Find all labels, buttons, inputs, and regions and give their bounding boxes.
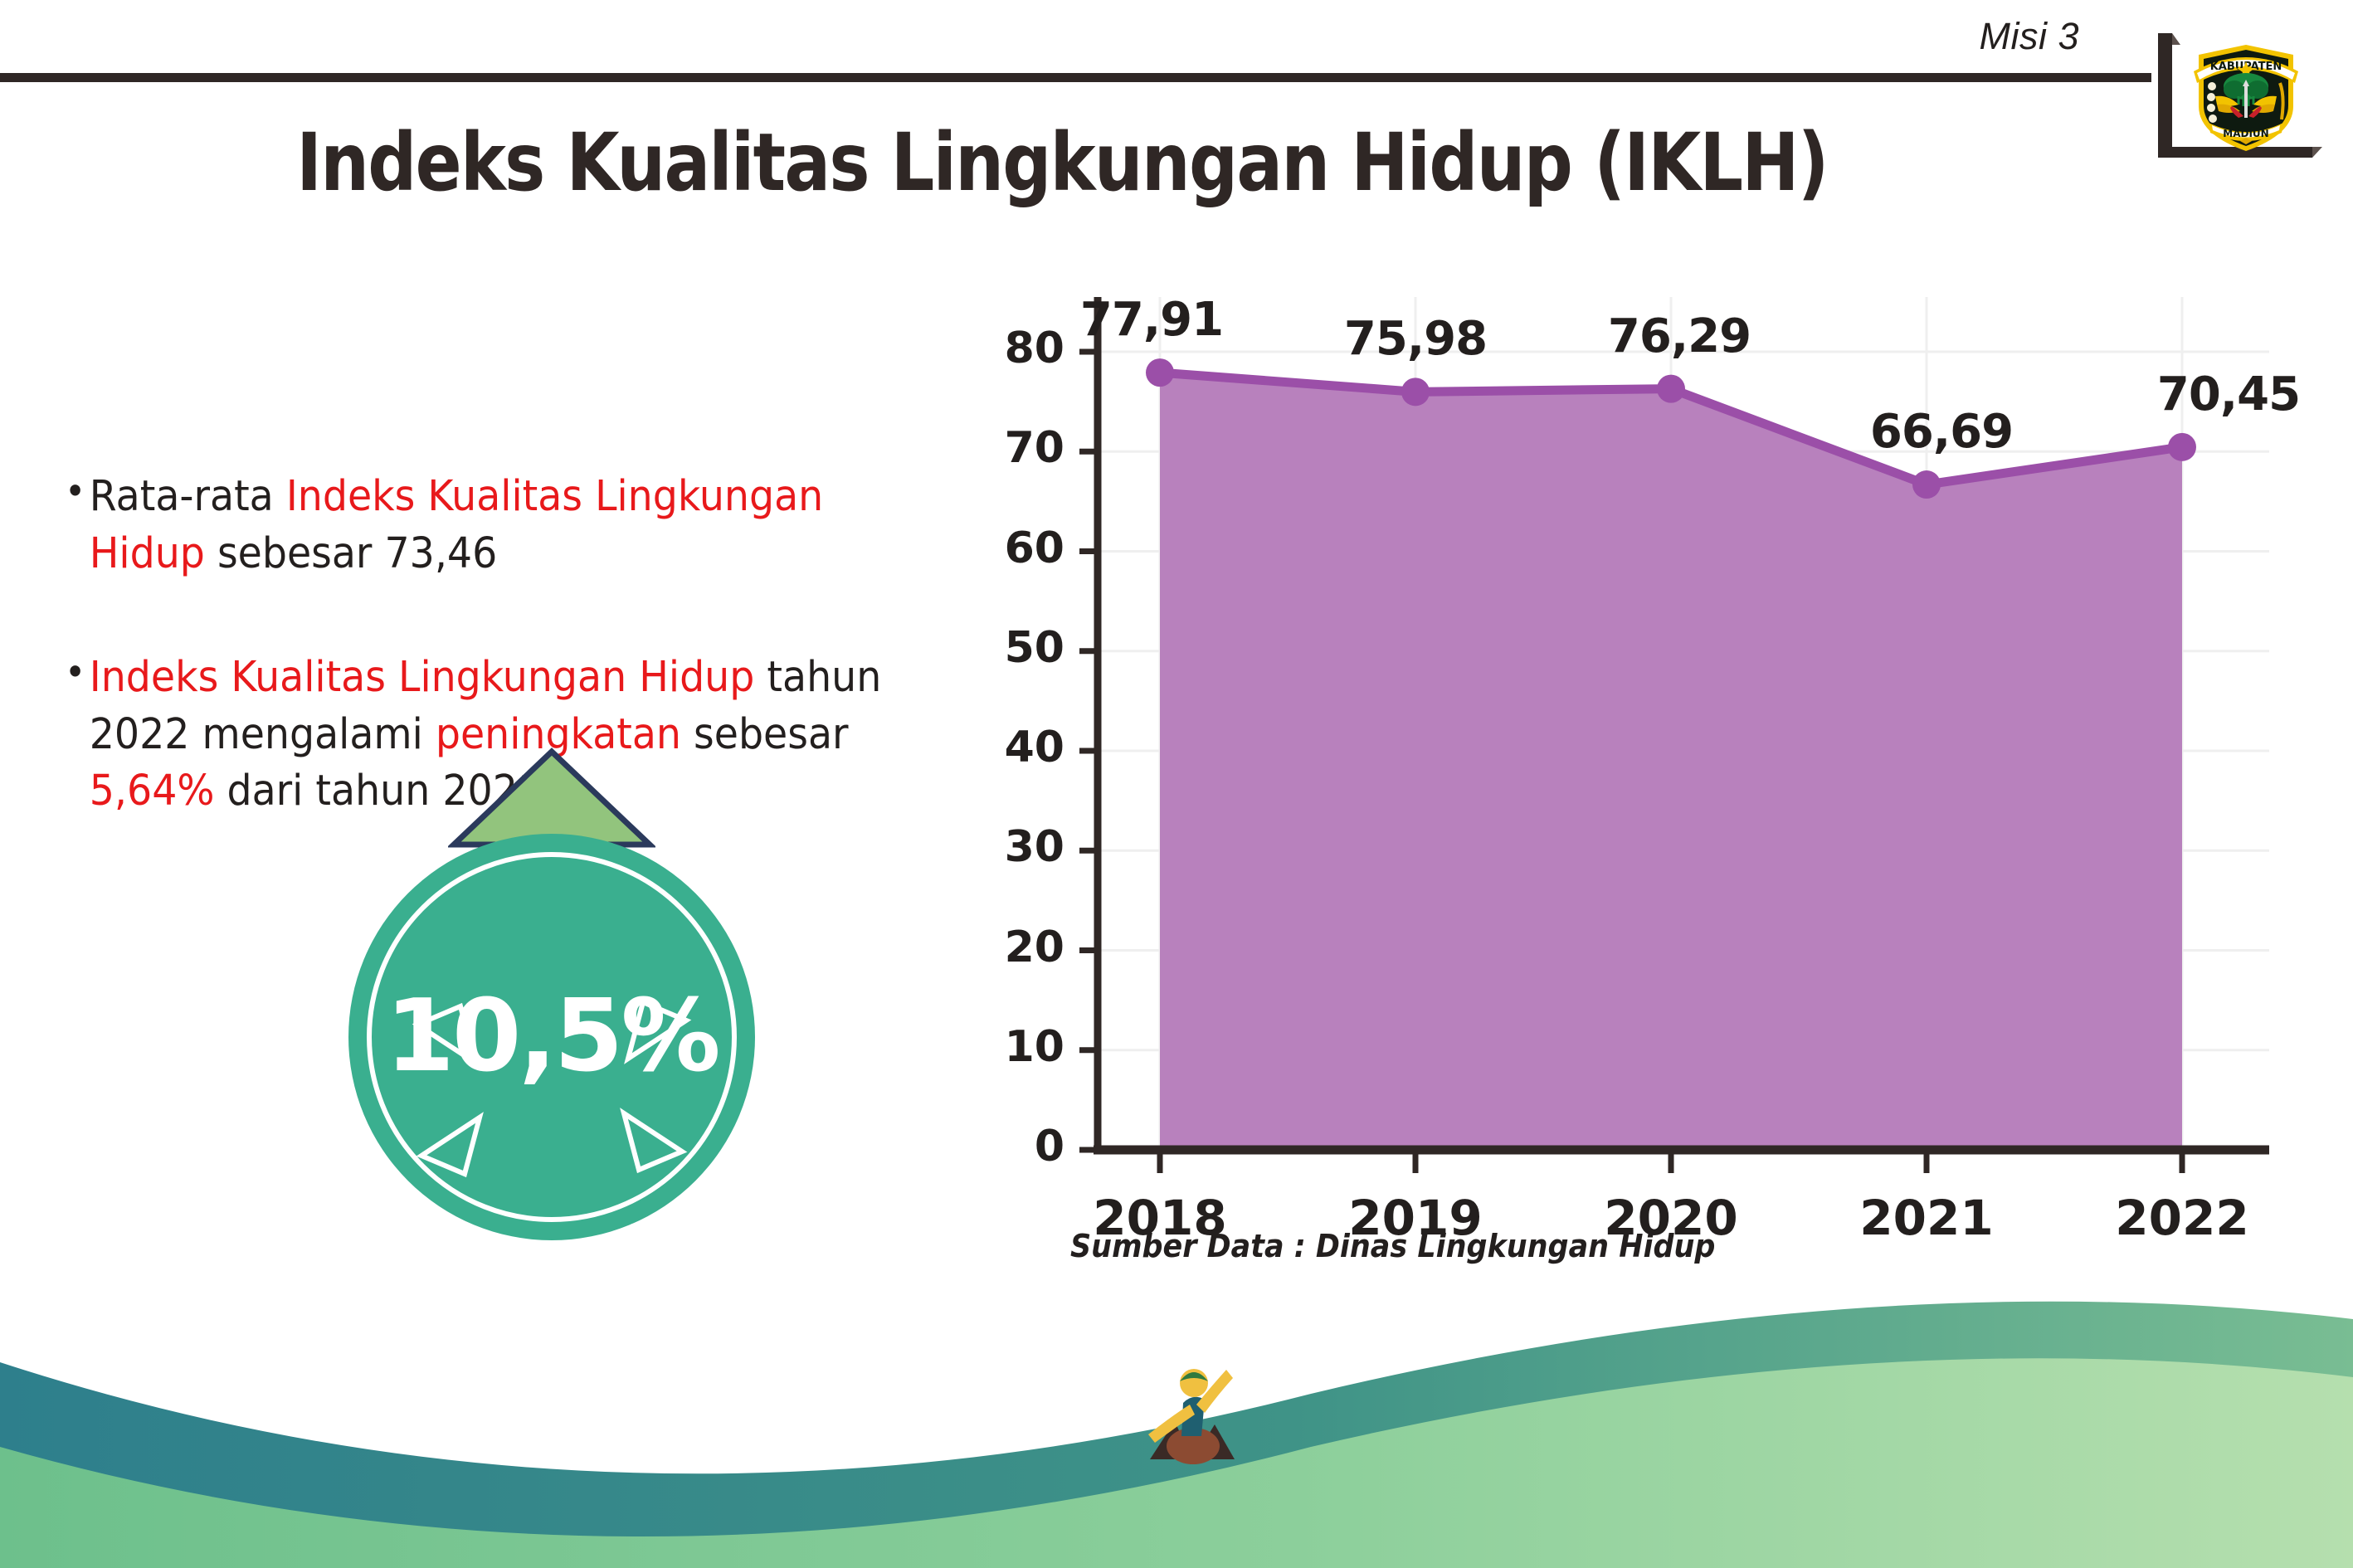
ytick-label-60: 60 (973, 523, 1064, 573)
xtick-label-2022: 2022 (2074, 1190, 2290, 1246)
series-marker-2020 (1657, 375, 1685, 403)
ytick-label-0: 0 (973, 1122, 1064, 1171)
bullet-1-segment-1: Rata-rata (90, 472, 286, 521)
increase-badge: 10,5% (332, 747, 763, 1186)
page-title: Indeks Kualitas Lingkungan Hidup (IKLH) (149, 116, 1975, 209)
bullet-2-segment-1: Indeks Kualitas Lingkungan Hidup (90, 653, 755, 702)
infographic-slide: Misi 3 KABUPATEN (0, 0, 2353, 1568)
ytick-label-50: 50 (973, 623, 1064, 673)
bracket-vertical-bevel (2172, 33, 2180, 45)
data-label-2022: 70,45 (2121, 368, 2336, 421)
bracket-horizontal-bevel (2312, 147, 2322, 158)
ytick-label-10: 10 (973, 1022, 1064, 1072)
data-label-2018: 77,91 (1044, 293, 1259, 347)
statistic-person-icon (1147, 1356, 1238, 1481)
bullet-1-segment-3: sebesar 73,46 (205, 529, 497, 578)
series-marker-2018 (1146, 358, 1174, 387)
bullet-2-segment-5: 5,64% (90, 767, 215, 816)
xtick-label-2021: 2021 (1819, 1190, 2034, 1246)
data-label-2020: 76,29 (1571, 309, 1787, 363)
data-label-2021: 66,69 (1834, 405, 2049, 459)
header-divider-rule (0, 73, 2151, 82)
bracket-vertical-bar (2158, 33, 2172, 158)
series-area-fill (1160, 373, 2182, 1150)
ytick-label-30: 30 (973, 822, 1064, 872)
logo-bottom-text: MADIUN (2223, 128, 2268, 139)
badge-value-label: 10,5% (348, 979, 755, 1094)
series-marker-2021 (1912, 470, 1941, 499)
ytick-label-70: 70 (973, 423, 1064, 473)
data-label-2019: 75,98 (1308, 312, 1523, 366)
badge-tick-bottom-right (614, 1103, 689, 1178)
bullet-item-1: Rata-rata Indeks Kualitas Lingkungan Hid… (65, 469, 921, 583)
series-marker-2022 (2168, 433, 2196, 461)
iklh-area-chart: 01020304050607080 20182019202020212022 7… (987, 282, 2282, 1195)
badge-tick-bottom-left (415, 1108, 490, 1182)
misi-label: Misi 3 (1979, 15, 2079, 58)
chart-plot-area (987, 282, 2282, 1195)
ytick-label-40: 40 (973, 723, 1064, 772)
series-marker-2019 (1401, 377, 1430, 406)
chart-source-note: Sumber Data : Dinas Lingkungan Hidup (1070, 1228, 1715, 1264)
ytick-label-20: 20 (973, 923, 1064, 972)
chart-series (1146, 358, 2196, 1150)
kabupaten-madiun-logo: KABUPATEN MADIUN (2190, 37, 2302, 154)
